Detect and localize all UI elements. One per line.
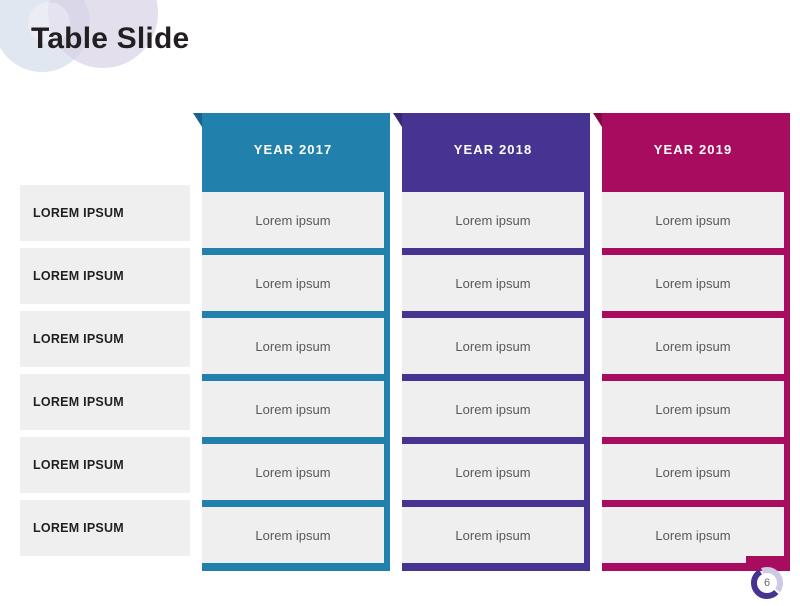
table-cell[interactable]: Lorem ipsum — [202, 381, 384, 437]
row-label: LOREM IPSUM — [20, 374, 190, 430]
label-column-header-spacer — [20, 113, 190, 185]
column-header-label: YEAR 2017 — [254, 142, 333, 157]
table-cell[interactable]: Lorem ipsum — [202, 192, 384, 248]
row-separator — [602, 311, 784, 318]
row-separator — [202, 374, 384, 381]
badge-accent-bar — [746, 556, 786, 563]
page-number-badge: 6 — [740, 556, 792, 602]
table-slide-content: LOREM IPSUMLOREM IPSUMLOREM IPSUMLOREM I… — [0, 113, 800, 571]
table-cell[interactable]: Lorem ipsum — [402, 318, 584, 374]
row-separator — [602, 437, 784, 444]
table-cell[interactable]: Lorem ipsum — [602, 255, 784, 311]
table-cell[interactable]: Lorem ipsum — [602, 381, 784, 437]
column-body: Lorem ipsumLorem ipsumLorem ipsumLorem i… — [202, 185, 390, 571]
column-header-label: YEAR 2018 — [454, 142, 533, 157]
page-title: Table Slide — [31, 20, 189, 58]
table-cell[interactable]: Lorem ipsum — [202, 507, 384, 563]
table-cell[interactable]: Lorem ipsum — [602, 318, 784, 374]
column-header[interactable]: YEAR 2017 — [202, 113, 390, 185]
row-separator — [602, 500, 784, 507]
table-cell[interactable]: Lorem ipsum — [202, 444, 384, 500]
column-footer-bar — [202, 563, 384, 571]
row-label: LOREM IPSUM — [20, 185, 190, 241]
ribbon-fold-icon — [593, 113, 602, 127]
column-header[interactable]: YEAR 2018 — [402, 113, 590, 185]
data-column-2: YEAR 2018Lorem ipsumLorem ipsumLorem ips… — [402, 113, 590, 571]
row-separator — [202, 248, 384, 255]
table-cell[interactable]: Lorem ipsum — [202, 255, 384, 311]
row-label: LOREM IPSUM — [20, 437, 190, 493]
row-separator — [202, 185, 384, 192]
row-label: LOREM IPSUM — [20, 311, 190, 367]
table-cell[interactable]: Lorem ipsum — [402, 507, 584, 563]
table-cell[interactable]: Lorem ipsum — [602, 507, 784, 563]
ribbon-fold-icon — [193, 113, 202, 127]
table-cell[interactable]: Lorem ipsum — [402, 381, 584, 437]
row-separator — [402, 374, 584, 381]
row-separator — [202, 437, 384, 444]
row-label: LOREM IPSUM — [20, 500, 190, 556]
row-separator — [402, 185, 584, 192]
table-cell[interactable]: Lorem ipsum — [602, 444, 784, 500]
row-separator — [402, 248, 584, 255]
row-separator — [402, 500, 584, 507]
column-footer-bar — [402, 563, 584, 571]
table-cell[interactable]: Lorem ipsum — [402, 444, 584, 500]
data-column-1: YEAR 2017Lorem ipsumLorem ipsumLorem ips… — [202, 113, 390, 571]
comparison-table: LOREM IPSUMLOREM IPSUMLOREM IPSUMLOREM I… — [0, 113, 800, 571]
table-cell[interactable]: Lorem ipsum — [402, 255, 584, 311]
row-label: LOREM IPSUM — [20, 248, 190, 304]
row-separator — [602, 374, 784, 381]
table-cell[interactable]: Lorem ipsum — [602, 192, 784, 248]
column-body: Lorem ipsumLorem ipsumLorem ipsumLorem i… — [402, 185, 590, 571]
data-column-3: YEAR 2019Lorem ipsumLorem ipsumLorem ips… — [602, 113, 790, 571]
row-separator — [402, 437, 584, 444]
row-label-column: LOREM IPSUMLOREM IPSUMLOREM IPSUMLOREM I… — [20, 113, 190, 571]
page-number: 6 — [750, 566, 784, 600]
row-separator — [202, 311, 384, 318]
column-body: Lorem ipsumLorem ipsumLorem ipsumLorem i… — [602, 185, 790, 571]
row-separator — [402, 311, 584, 318]
row-separator — [202, 500, 384, 507]
column-header[interactable]: YEAR 2019 — [602, 113, 790, 185]
row-separator — [602, 185, 784, 192]
row-separator — [602, 248, 784, 255]
column-header-label: YEAR 2019 — [654, 142, 733, 157]
title-decoration — [0, 0, 260, 120]
table-cell[interactable]: Lorem ipsum — [402, 192, 584, 248]
table-cell[interactable]: Lorem ipsum — [202, 318, 384, 374]
ribbon-fold-icon — [393, 113, 402, 127]
